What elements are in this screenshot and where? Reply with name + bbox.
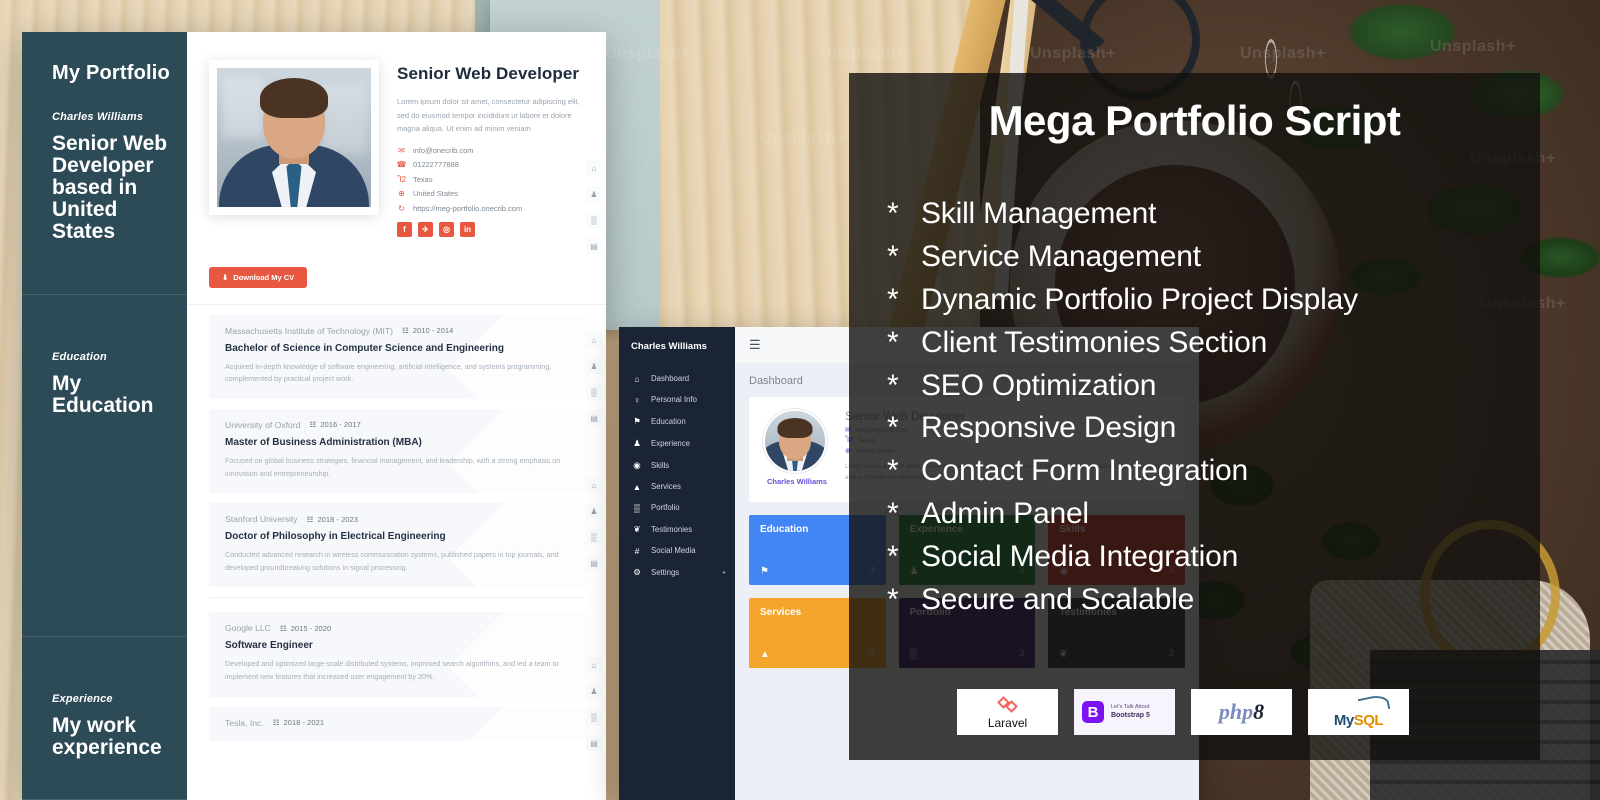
promo-feature-list: *Skill Management*Service Management*Dyn… [887, 193, 1540, 622]
sidebar-item-services[interactable]: ▲Services [619, 476, 735, 497]
dolphin-icon [1359, 696, 1389, 712]
bootstrap-mark-icon: B [1082, 701, 1104, 723]
sidebar-item-label: Settings [651, 568, 679, 577]
sidebar-item-portfolio[interactable]: ▒Portfolio [619, 497, 735, 518]
card-date: ☷2016 - 2017 [309, 420, 360, 429]
promo-feature-label: Responsive Design [921, 411, 1176, 444]
download-icon: ⬇ [222, 273, 228, 282]
user-icon[interactable]: ♟ [586, 503, 602, 519]
promo-feature-item: *SEO Optimization [887, 365, 1540, 408]
promo-feature-label: Skill Management [921, 197, 1156, 230]
sidebar-item-label: Experience [651, 439, 690, 448]
calendar-icon: ☷ [309, 420, 316, 429]
card-org: University of Oxford [225, 420, 300, 430]
promo-feature-label: Dynamic Portfolio Project Display [921, 283, 1358, 316]
profile-photo [217, 68, 371, 207]
calendar-icon: ☷ [307, 515, 314, 524]
sidebar-item-settings[interactable]: ⚙Settings◂ [619, 561, 735, 583]
bullet-star-icon: * [887, 322, 921, 365]
contact-value: info@onecrib.com [413, 146, 474, 155]
user-icon[interactable]: ♟ [586, 358, 602, 374]
hero-social-links[interactable]: f✈◎in [397, 222, 580, 237]
promo-feature-item: *Secure and Scalable [887, 579, 1540, 622]
php-version: 8 [1253, 699, 1264, 725]
promo-title: Mega Portfolio Script [849, 97, 1540, 145]
portfolio-brand[interactable]: My Portfolio [52, 62, 171, 85]
hash-icon: # [632, 546, 642, 556]
bullet-star-icon: * [887, 536, 921, 579]
cone-icon: ▲ [760, 649, 770, 660]
twitter-icon[interactable]: ✈ [418, 222, 433, 237]
mysql-logo: MySQL [1308, 689, 1409, 735]
rail-kicker-name: Charles Williams [52, 111, 171, 123]
linkedin-icon[interactable]: in [460, 222, 475, 237]
instagram-icon[interactable]: ◎ [439, 222, 454, 237]
side-nav-group-2[interactable]: ⌂♟▒▤ [586, 332, 602, 426]
contact-row: ☎01222777888 [397, 160, 580, 169]
home-icon[interactable]: ⌂ [586, 657, 602, 673]
briefcase-icon[interactable]: ▒ [586, 529, 602, 545]
calendar-icon: ☷ [402, 326, 409, 335]
rail-kicker-experience: Experience [52, 693, 171, 705]
contact-row: ✉info@onecrib.com [397, 146, 580, 155]
php-label: php [1219, 699, 1253, 725]
hero-description: Lorem ipsum dolor sit amet, consectetur … [397, 95, 580, 134]
sidebar-item-personal-info[interactable]: ♀Personal Info [619, 389, 735, 410]
bullet-star-icon: * [887, 193, 921, 236]
gear-icon: ⚙ [632, 567, 642, 578]
laravel-mark-icon [997, 695, 1019, 715]
side-nav-group-1[interactable]: ⌂♟▒▤ [586, 160, 602, 254]
card-org: Tesla, Inc. [225, 718, 264, 728]
user-icon[interactable]: ♟ [586, 683, 602, 699]
briefcase-icon[interactable]: ▒ [586, 384, 602, 400]
promo-feature-label: Service Management [921, 240, 1201, 273]
card-org: Google LLC [225, 623, 271, 633]
promo-feature-item: *Service Management [887, 236, 1540, 279]
bootstrap-name: Bootstrap 5 [1111, 711, 1150, 722]
hamburger-menu-icon[interactable]: ☰ [749, 337, 761, 353]
portfolio-side-nav[interactable]: ⌂♟▒▤ ⌂♟▒▤ ⌂♟▒▤ ⌂♟▒▤ [582, 32, 606, 800]
hero-role-title: Senior Web Developer [397, 64, 580, 84]
portfolio-left-rail: My Portfolio Charles Williams Senior Web… [22, 32, 187, 800]
book-icon[interactable]: ▤ [586, 555, 602, 571]
sidebar-item-testimonies[interactable]: ❦Testimonies [619, 518, 735, 540]
home-icon[interactable]: ⌂ [586, 477, 602, 493]
hero-details: Senior Web Developer Lorem ipsum dolor s… [397, 60, 580, 237]
card-date: ☷2018 - 2021 [273, 718, 324, 727]
promo-feature-label: Admin Panel [921, 497, 1089, 530]
sidebar-item-label: Education [651, 417, 686, 426]
admin-brand: Charles Williams [619, 327, 735, 366]
promo-feature-item: *Skill Management [887, 193, 1540, 236]
sidebar-item-label: Services [651, 482, 681, 491]
laravel-label: Laravel [988, 716, 1027, 730]
brain-icon: ◉ [632, 460, 642, 471]
calendar-icon: ☷ [273, 718, 280, 727]
card-title: Bachelor of Science in Computer Science … [225, 343, 574, 354]
contact-value: https://meg-portfolio.onecrib.com [413, 204, 522, 213]
side-nav-group-4[interactable]: ⌂♟▒▤ [586, 657, 602, 751]
card-description: Developed and optimized large-scale dist… [225, 658, 574, 683]
promo-feature-item: *Admin Panel [887, 493, 1540, 536]
card-title: Doctor of Philosophy in Electrical Engin… [225, 531, 574, 542]
bullet-star-icon: * [887, 493, 921, 536]
admin-nav[interactable]: ⌂Dashboard♀Personal Info⚑Education♟Exper… [619, 366, 735, 583]
promo-feature-label: Social Media Integration [921, 540, 1238, 573]
card-date: ☷2018 - 2023 [307, 515, 358, 524]
book-icon[interactable]: ▤ [586, 410, 602, 426]
technology-logos: Laravel B Let's Talk About Bootstrap 5 p… [957, 689, 1409, 735]
facebook-icon[interactable]: f [397, 222, 412, 237]
card-org-row: Massachusetts Institute of Technology (M… [225, 326, 574, 336]
portfolio-hero: Senior Web Developer Lorem ipsum dolor s… [187, 32, 606, 257]
list-item: Massachusetts Institute of Technology (M… [209, 315, 590, 399]
user-icon[interactable]: ♟ [586, 186, 602, 202]
book-icon[interactable]: ▤ [586, 238, 602, 254]
rail-title-intro: Senior Web Developer based in United Sta… [52, 133, 171, 243]
card-org: Stanford University [225, 514, 298, 524]
promo-feature-item: *Dynamic Portfolio Project Display [887, 279, 1540, 322]
contact-row: ⊕United States [397, 189, 580, 198]
graduation-icon: ⚑ [760, 566, 769, 577]
sidebar-item-dashboard[interactable]: ⌂Dashboard [619, 368, 735, 389]
sidebar-item-education[interactable]: ⚑Education [619, 410, 735, 432]
person-icon: ♀ [632, 395, 642, 405]
card-description: Acquired in-depth knowledge of software … [225, 361, 574, 386]
sidebar-item-social-media[interactable]: #Social Media [619, 540, 735, 561]
bullet-star-icon: * [887, 407, 921, 450]
mysql-label: MySQL [1334, 712, 1383, 729]
rail-section-education: Education My Education [22, 295, 187, 637]
sidebar-item-skills[interactable]: ◉Skills [619, 454, 735, 476]
card-org-row: Stanford University☷2018 - 2023 [225, 514, 574, 524]
download-cv-button[interactable]: ⬇ Download My CV [209, 267, 307, 288]
download-cv-label: Download My CV [233, 273, 294, 282]
users-icon: ♟ [632, 438, 642, 449]
contact-row: ↻https://meg-portfolio.onecrib.com [397, 204, 580, 213]
education-list: Massachusetts Institute of Technology (M… [187, 305, 606, 588]
rail-section-experience: Experience My work experience [22, 637, 187, 800]
promo-feature-item: *Contact Form Integration [887, 450, 1540, 493]
card-org: Massachusetts Institute of Technology (M… [225, 326, 393, 336]
bullet-star-icon: * [887, 365, 921, 408]
sidebar-item-label: Social Media [651, 546, 696, 555]
contact-value: United States [413, 189, 458, 198]
profile-photo-frame [209, 60, 379, 215]
portfolio-frontend-screenshot: My Portfolio Charles Williams Senior Web… [22, 32, 606, 800]
list-item: University of Oxford☷2016 - 2017Master o… [209, 409, 590, 493]
chat-icon: ❦ [632, 524, 642, 535]
list-item: Tesla, Inc.☷2018 - 2021 [209, 707, 590, 741]
book-icon[interactable]: ▤ [586, 735, 602, 751]
promo-feature-item: *Responsive Design [887, 407, 1540, 450]
contact-value: Texas [413, 175, 433, 184]
sidebar-item-experience[interactable]: ♟Experience [619, 432, 735, 454]
experience-list: Google LLC☷2015 - 2020Software EngineerD… [187, 598, 606, 740]
contact-row: Ἶ2Texas [397, 175, 580, 184]
card-date: ☷2015 - 2020 [280, 624, 331, 633]
bootstrap-logo: B Let's Talk About Bootstrap 5 [1074, 689, 1175, 735]
link-icon: ↻ [397, 204, 406, 213]
php8-logo: php 8 [1191, 689, 1292, 735]
rail-section-intro: My Portfolio Charles Williams Senior Web… [22, 32, 187, 295]
sidebar-item-label: Personal Info [651, 395, 697, 404]
card-org-row: Tesla, Inc.☷2018 - 2021 [225, 718, 574, 728]
rail-kicker-education: Education [52, 351, 171, 363]
home-icon: ⌂ [632, 374, 642, 384]
admin-sidebar: Charles Williams ⌂Dashboard♀Personal Inf… [619, 327, 735, 800]
list-item: Google LLC☷2015 - 2020Software EngineerD… [209, 612, 590, 696]
rail-title-education: My Education [52, 373, 171, 417]
sidebar-item-label: Dashboard [651, 374, 689, 383]
contact-value: 01222777888 [413, 160, 459, 169]
card-title: Master of Business Administration (MBA) [225, 437, 574, 448]
card-org-row: Google LLC☷2015 - 2020 [225, 623, 574, 633]
admin-profile-name: Charles Williams [763, 477, 831, 488]
chevron-left-icon: ◂ [722, 569, 725, 576]
promo-feature-item: *Client Testimonies Section [887, 322, 1540, 365]
bullet-star-icon: * [887, 579, 921, 622]
card-description: Focused on global business strategies, f… [225, 455, 574, 480]
card-description: Conducted advanced research in wireless … [225, 549, 574, 574]
mysql-sql: SQL [1354, 712, 1383, 729]
graduation-icon: ⚑ [632, 416, 642, 427]
city-icon: Ἶ2 [397, 175, 406, 184]
home-icon[interactable]: ⌂ [586, 160, 602, 176]
hero-contact-list: ✉info@onecrib.com☎01222777888Ἶ2Texas⊕Uni… [397, 146, 580, 213]
briefcase-icon: ▒ [632, 503, 642, 513]
promo-feature-label: Contact Form Integration [921, 454, 1248, 487]
avatar [763, 409, 827, 473]
bullet-star-icon: * [887, 236, 921, 279]
sidebar-item-label: Portfolio [651, 503, 680, 512]
calendar-icon: ☷ [280, 624, 287, 633]
briefcase-icon[interactable]: ▒ [586, 212, 602, 228]
laravel-logo: Laravel [957, 689, 1058, 735]
briefcase-icon[interactable]: ▒ [586, 709, 602, 725]
mysql-my: My [1334, 712, 1354, 729]
rail-title-experience: My work experience [52, 715, 171, 759]
promo-feature-label: SEO Optimization [921, 369, 1156, 402]
phone-icon: ☎ [397, 160, 406, 169]
card-date: ☷2010 - 2014 [402, 326, 453, 335]
bullet-star-icon: * [887, 450, 921, 493]
email-icon: ✉ [397, 146, 406, 155]
globe-icon: ⊕ [397, 189, 406, 198]
sidebar-item-label: Skills [651, 461, 669, 470]
promo-feature-label: Secure and Scalable [921, 583, 1194, 616]
bullet-star-icon: * [887, 279, 921, 322]
portfolio-main: Senior Web Developer Lorem ipsum dolor s… [187, 32, 606, 800]
side-nav-group-3[interactable]: ⌂♟▒▤ [586, 477, 602, 571]
home-icon[interactable]: ⌂ [586, 332, 602, 348]
promo-feature-label: Client Testimonies Section [921, 326, 1267, 359]
cone-icon: ▲ [632, 482, 642, 492]
card-title: Software Engineer [225, 640, 574, 651]
promo-overlay: Mega Portfolio Script *Skill Management*… [849, 73, 1540, 760]
sidebar-item-label: Testimonies [651, 525, 692, 534]
bootstrap-label: Let's Talk About Bootstrap 5 [1111, 703, 1150, 722]
card-org-row: University of Oxford☷2016 - 2017 [225, 420, 574, 430]
list-item: Stanford University☷2018 - 2023Doctor of… [209, 503, 590, 587]
bootstrap-tagline: Let's Talk About [1111, 704, 1149, 710]
promo-feature-item: *Social Media Integration [887, 536, 1540, 579]
